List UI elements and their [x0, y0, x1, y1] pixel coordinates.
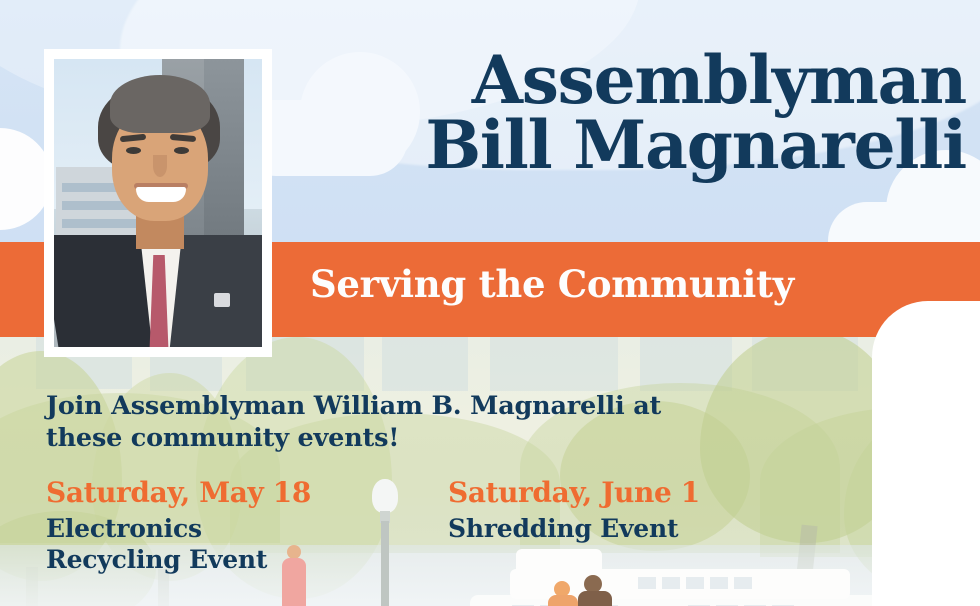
event-item: Saturday, May 18 Electronics Recycling E… — [46, 478, 311, 575]
portrait-photo — [54, 59, 262, 347]
event-date: Saturday, May 18 — [46, 478, 311, 509]
boat-window — [662, 577, 680, 589]
boat-cabin — [516, 549, 602, 573]
event-name-line-1: Shredding Event — [448, 513, 700, 544]
body-copy: Join Assemblyman William B. Magnarelli a… — [46, 390, 836, 454]
boat-window — [686, 577, 704, 589]
event-name: Shredding Event — [448, 513, 700, 544]
photo-eye — [126, 147, 141, 154]
event-item: Saturday, June 1 Shredding Event — [448, 478, 700, 544]
headline-line-1: Assemblyman — [306, 48, 966, 113]
boat-window — [638, 577, 656, 589]
white-corner-panel — [872, 301, 980, 606]
event-name-line-2: Recycling Event — [46, 544, 311, 575]
intro-text: Join Assemblyman William B. Magnarelli a… — [46, 390, 836, 454]
event-date: Saturday, June 1 — [448, 478, 700, 509]
photo-lapel-pin — [214, 293, 230, 307]
photo-window-row — [62, 219, 142, 228]
intro-line-2: these community events! — [46, 422, 836, 454]
banner-tagline: Serving the Community — [310, 262, 794, 306]
event-name: Electronics Recycling Event — [46, 513, 311, 575]
boat-window — [710, 577, 728, 589]
photo-hair-top — [110, 75, 210, 133]
intro-line-1: Join Assemblyman William B. Magnarelli a… — [46, 390, 836, 422]
photo-nose — [153, 155, 167, 177]
person-body — [578, 591, 612, 606]
photo-eye — [174, 147, 189, 154]
event-name-line-1: Electronics — [46, 513, 311, 544]
boat-window — [734, 577, 752, 589]
photo-smile — [136, 187, 186, 202]
lamp-post — [381, 521, 389, 606]
portrait-photo-frame — [44, 49, 272, 357]
headline-line-2: Bill Magnarelli — [306, 113, 966, 178]
flyer-canvas: Serving the Community Assemblyman Bill M… — [0, 0, 980, 606]
page-title: Assemblyman Bill Magnarelli — [306, 48, 966, 179]
lamp-globe — [372, 479, 398, 513]
person-body — [548, 595, 578, 606]
